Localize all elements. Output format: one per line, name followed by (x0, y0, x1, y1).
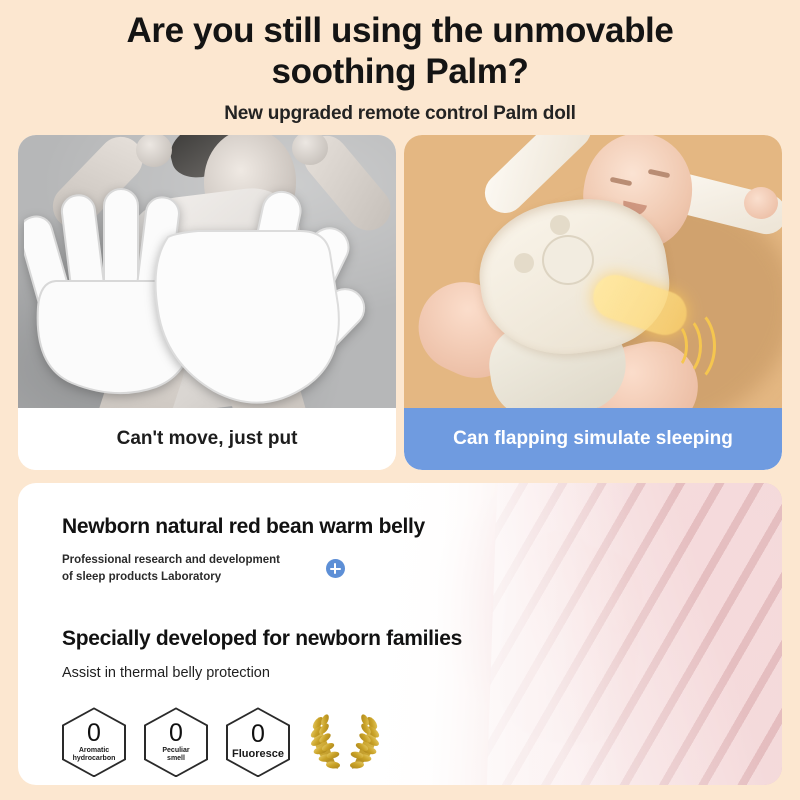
hex-badge-value: 0 (87, 721, 101, 746)
laurel-wreath-icon (308, 711, 382, 773)
palm-pillow-icon-2 (146, 185, 366, 408)
page-subtitle: New upgraded remote control Palm doll (0, 103, 800, 125)
page-title: Are you still using the unmovable soothi… (0, 10, 800, 93)
hex-badge-value: 0 (169, 721, 183, 746)
info-heading-1: Newborn natural red bean warm belly (62, 515, 478, 539)
hex-badge-label: Aromatic hydrocarbon (73, 747, 116, 765)
info-sub-row-1: Professional research and development of… (62, 552, 478, 585)
certification-badge-row: 0 Aromatic hydrocarbon 0 Peculiar smell … (62, 707, 478, 777)
doll-ear-shape-2 (514, 253, 534, 273)
info-panel: Newborn natural red bean warm belly Prof… (18, 483, 782, 785)
hex-badge-value: 0 (251, 722, 265, 747)
info-sub-1: Professional research and development of… (62, 552, 280, 585)
doll-ear-shape (550, 215, 570, 235)
doll-card-caption: Can flapping simulate sleeping (404, 408, 782, 470)
info-heading-2: Specially developed for newborn families (62, 627, 478, 651)
doll-photo (404, 135, 782, 408)
feature-card-palm[interactable]: Can't move, just put (18, 135, 396, 470)
palm-card-caption: Can't move, just put (18, 408, 396, 470)
hex-badge-label: Fluoresce (232, 748, 284, 762)
hex-badge-peculiar-smell: 0 Peculiar smell (144, 707, 208, 777)
hex-badge-label: Peculiar smell (162, 747, 189, 765)
hex-badge-aromatic-hydrocarbon: 0 Aromatic hydrocarbon (62, 707, 126, 777)
motion-wave-icon-3 (662, 307, 716, 385)
feature-card-row: Can't move, just put Can flapping simula… (18, 135, 782, 470)
info-panel-content: Newborn natural red bean warm belly Prof… (18, 483, 478, 785)
feature-card-doll[interactable]: Can flapping simulate sleeping (404, 135, 782, 470)
palm-photo (18, 135, 396, 408)
plus-circle-icon[interactable] (326, 559, 345, 578)
baby-hand-right-shape (744, 187, 778, 219)
page-header: Are you still using the unmovable soothi… (0, 0, 800, 125)
info-sub-2: Assist in thermal belly protection (62, 665, 478, 681)
doll-face-shape (542, 235, 594, 285)
hex-badge-fluoresce: 0 Fluoresce (226, 707, 290, 777)
